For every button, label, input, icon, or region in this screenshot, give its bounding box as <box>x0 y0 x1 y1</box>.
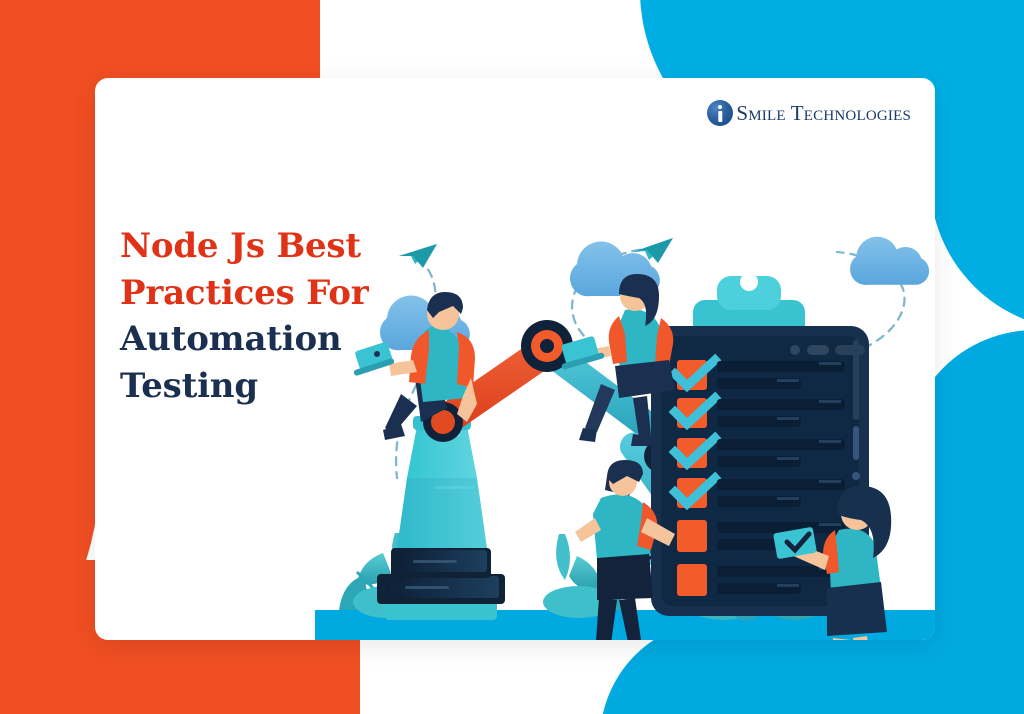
title-line-3: Automation <box>120 316 460 363</box>
page-title: Node Js Best Practices For Automation Te… <box>120 223 460 409</box>
banner: Node Js Best Practices For Automation Te… <box>0 0 1024 714</box>
brand-logo-text: Smile Technologies <box>736 101 911 126</box>
corner-shape-right-bar <box>930 0 1024 330</box>
title-line-2: Practices For <box>120 270 460 317</box>
title-line-4: Testing <box>120 363 460 410</box>
cloud-right <box>850 237 929 285</box>
title-line-1: Node Js Best <box>120 223 460 270</box>
content-card: Node Js Best Practices For Automation Te… <box>95 78 935 640</box>
brand-logo[interactable]: Smile Technologies <box>707 100 911 126</box>
i-circle-icon <box>707 100 733 126</box>
